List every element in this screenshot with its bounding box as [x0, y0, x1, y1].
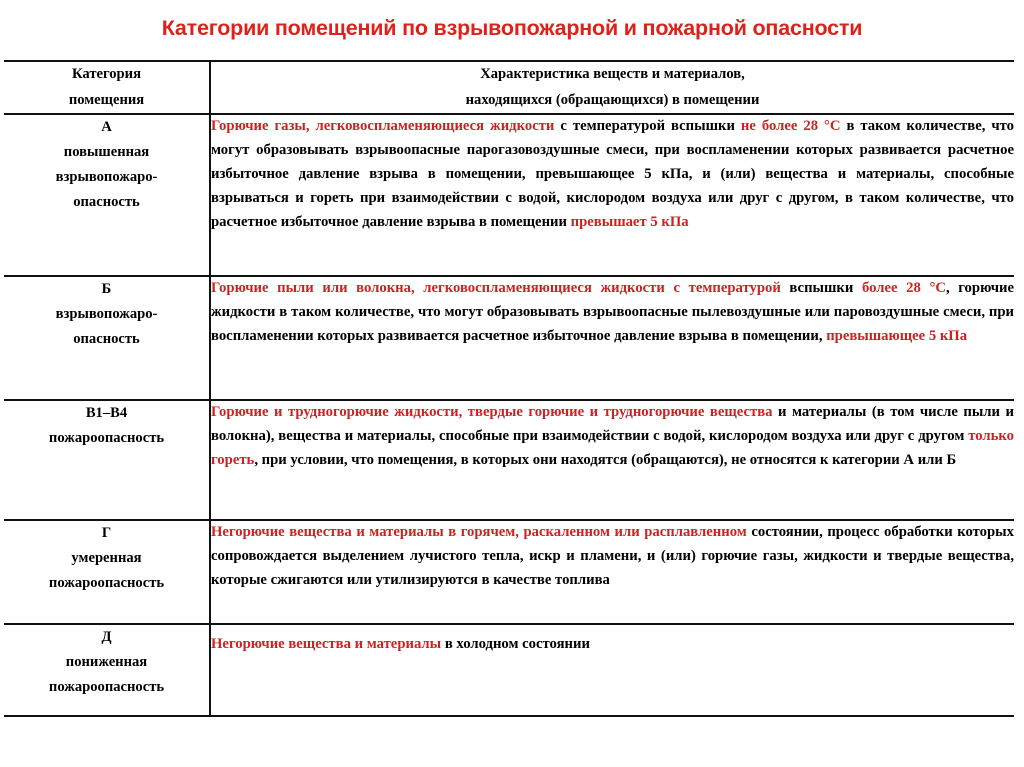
- category-sub-g-1: умеренная: [4, 546, 209, 571]
- table-row: Д пониженная пожароопасность Негорючие в…: [4, 624, 1014, 716]
- page-title-bar: Категории помещений по взрывопожарной и …: [0, 0, 1024, 60]
- table-body: Категория помещения Характеристика вещес…: [4, 61, 1014, 716]
- highlight-text: более 28 °С: [862, 280, 946, 296]
- table-header-row: Категория помещения Характеристика вещес…: [4, 61, 1014, 114]
- cell-description-g: Негорючие вещества и материалы в горячем…: [210, 520, 1014, 624]
- cell-category-a: А повышенная взрывопожаро- опасность: [4, 114, 210, 276]
- category-sub-a-2: взрывопожаро-: [4, 165, 209, 190]
- cell-category-b: Б взрывопожаро- опасность: [4, 276, 210, 400]
- document-page: Категории помещений по взрывопожарной и …: [0, 0, 1024, 767]
- header-category-line2: помещения: [69, 92, 144, 108]
- highlight-text: не более 28 °С: [741, 118, 841, 134]
- cell-description-a: Горючие газы, легковоспламеняющиеся жидк…: [210, 114, 1014, 276]
- body-text: с температурой вспышки: [554, 118, 740, 134]
- description-text-d: Негорючие вещества и материалы в холодно…: [211, 633, 1014, 657]
- cell-description-b: Горючие пыли или волокна, легковоспламен…: [210, 276, 1014, 400]
- category-letter-a: А: [4, 115, 209, 140]
- description-text-b: Горючие пыли или волокна, легковоспламен…: [211, 277, 1014, 349]
- header-category-line1: Категория: [72, 66, 141, 82]
- description-text-v: Горючие и трудногорючие жидкости, тверды…: [211, 401, 1014, 473]
- category-letter-d: Д: [4, 625, 209, 650]
- highlight-text: превышающее 5 кПа: [826, 328, 967, 344]
- highlight-text: Горючие пыли или волокна, легковоспламен…: [211, 280, 781, 296]
- highlight-text: Горючие газы, легковоспламеняющиеся жидк…: [211, 118, 554, 134]
- category-sub-b-1: взрывопожаро-: [4, 302, 209, 327]
- cell-category-v: В1–В4 пожароопасность: [4, 400, 210, 520]
- category-letter-b: Б: [4, 277, 209, 302]
- category-sub-g-2: пожароопасность: [4, 571, 209, 596]
- category-sub-v-1: пожароопасность: [4, 426, 209, 451]
- header-description-line1: Характеристика веществ и материалов,: [211, 62, 1014, 88]
- table-row: А повышенная взрывопожаро- опасность Гор…: [4, 114, 1014, 276]
- category-sub-b-2: опасность: [4, 327, 209, 352]
- cell-category-g: Г умеренная пожароопасность: [4, 520, 210, 624]
- category-letter-g: Г: [4, 521, 209, 546]
- cell-description-d: Негорючие вещества и материалы в холодно…: [210, 624, 1014, 716]
- header-cell-category: Категория помещения: [4, 61, 210, 114]
- fire-category-table: Категория помещения Характеристика вещес…: [4, 60, 1014, 717]
- table-row: Г умеренная пожароопасность Негорючие ве…: [4, 520, 1014, 624]
- page-title: Категории помещений по взрывопожарной и …: [162, 16, 863, 41]
- category-sub-d-1: пониженная: [4, 650, 209, 675]
- body-text: , при условии, что помещения, в которых …: [254, 452, 956, 468]
- category-sub-a-1: повышенная: [4, 140, 209, 165]
- highlight-text: Негорючие вещества и материалы в горячем…: [211, 524, 747, 540]
- category-sub-a-3: опасность: [4, 190, 209, 215]
- table-row: В1–В4 пожароопасность Горючие и трудного…: [4, 400, 1014, 520]
- header-description-line2: находящихся (обращающихся) в помещении: [211, 88, 1014, 114]
- description-text-a: Горючие газы, легковоспламеняющиеся жидк…: [211, 115, 1014, 235]
- body-text: в холодном состоянии: [441, 636, 590, 652]
- cell-category-d: Д пониженная пожароопасность: [4, 624, 210, 716]
- category-sub-d-2: пожароопасность: [4, 675, 209, 700]
- highlight-text: Горючие и трудногорючие жидкости, тверды…: [211, 404, 772, 420]
- highlight-text: превышает 5 кПа: [571, 214, 689, 230]
- highlight-text: Негорючие вещества и материалы: [211, 636, 441, 652]
- body-text: вспышки: [781, 280, 862, 296]
- cell-description-v: Горючие и трудногорючие жидкости, тверды…: [210, 400, 1014, 520]
- header-cell-description: Характеристика веществ и материалов, нах…: [210, 61, 1014, 114]
- category-letter-v: В1–В4: [4, 401, 209, 426]
- description-text-g: Негорючие вещества и материалы в горячем…: [211, 521, 1014, 593]
- table-row: Б взрывопожаро- опасность Горючие пыли и…: [4, 276, 1014, 400]
